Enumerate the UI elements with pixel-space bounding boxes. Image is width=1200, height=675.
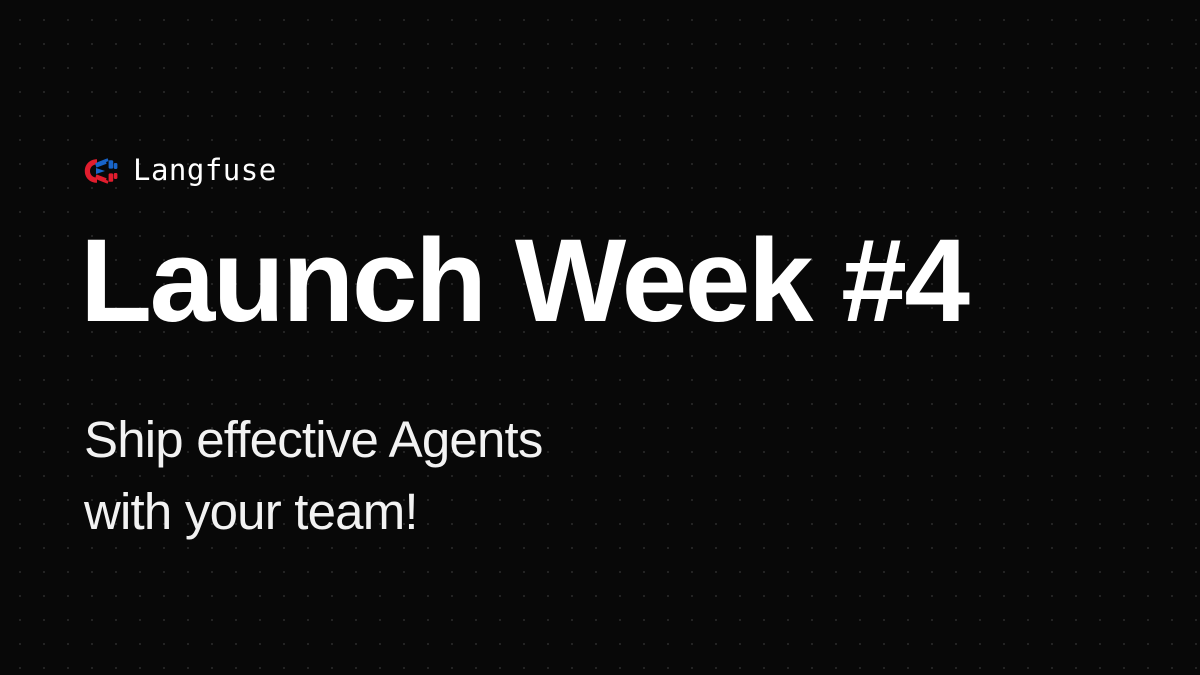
langfuse-logo-mark-icon bbox=[84, 158, 118, 184]
subtitle: Ship effective Agents with your team! bbox=[84, 404, 543, 548]
brand-wordmark: Langfuse bbox=[133, 156, 277, 185]
brand-logo-lockup: Langfuse bbox=[84, 156, 277, 185]
subtitle-line-2: with your team! bbox=[84, 476, 543, 548]
banner-content: Langfuse Launch Week #4 Ship effective A… bbox=[84, 0, 1144, 675]
subtitle-line-1: Ship effective Agents bbox=[84, 404, 543, 476]
launch-week-banner: Langfuse Launch Week #4 Ship effective A… bbox=[0, 0, 1200, 675]
page-title: Launch Week #4 bbox=[80, 222, 968, 340]
